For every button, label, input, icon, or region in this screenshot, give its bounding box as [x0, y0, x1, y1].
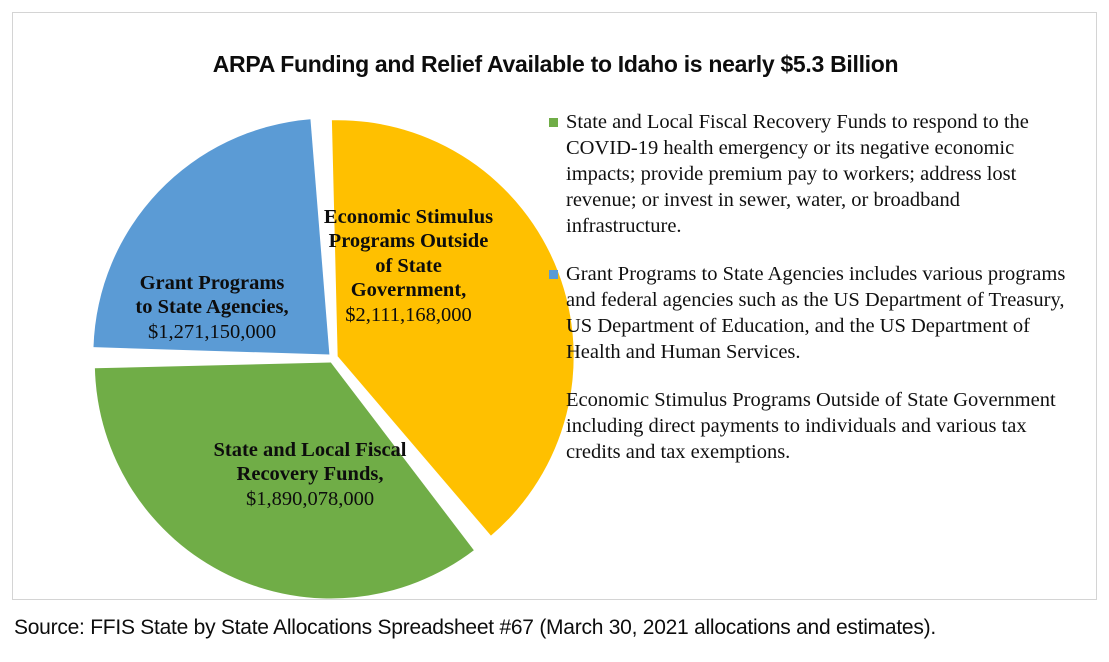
legend-marker-yellow-icon: [549, 396, 558, 405]
legend-entry-1[interactable]: State and Local Fiscal Recovery Funds to…: [549, 109, 1079, 239]
source-note: Source: FFIS State by State Allocations …: [14, 616, 1099, 640]
legend-entry-text: Economic Stimulus Programs Outside of St…: [566, 387, 1079, 465]
pie-chart: Economic Stimulus Programs Outside of St…: [13, 13, 633, 601]
chart-page: ARPA Funding and Relief Available to Ida…: [0, 0, 1109, 662]
legend-entry-2[interactable]: Grant Programs to State Agencies include…: [549, 261, 1079, 365]
legend-marker-blue-icon: [549, 270, 558, 279]
chart-frame: ARPA Funding and Relief Available to Ida…: [12, 12, 1097, 600]
legend-marker-green-icon: [549, 118, 558, 127]
pie-chart-svg: [13, 13, 633, 601]
legend-entry-text: State and Local Fiscal Recovery Funds to…: [566, 109, 1079, 239]
legend-entry-text: Grant Programs to State Agencies include…: [566, 261, 1079, 365]
legend-entry-3[interactable]: Economic Stimulus Programs Outside of St…: [549, 387, 1079, 465]
pie-slice-grant-programs-state-agencies[interactable]: [93, 119, 329, 354]
chart-legend: State and Local Fiscal Recovery Funds to…: [549, 109, 1079, 487]
pie-slice-group: [93, 119, 573, 598]
